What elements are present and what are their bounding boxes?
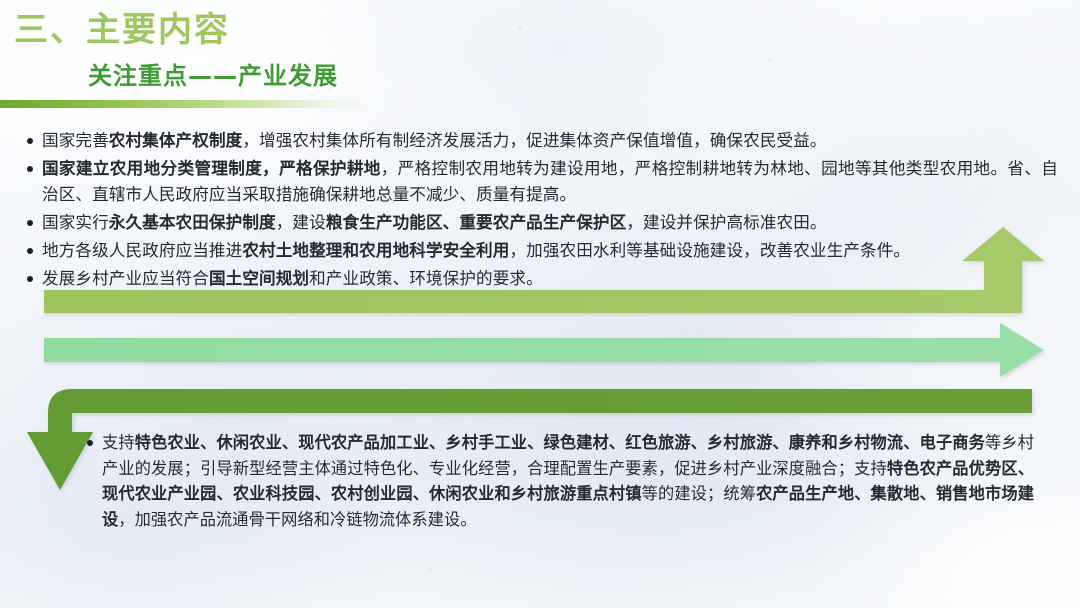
bullet-farmland-classification: 国家建立农用地分类管理制度，严格保护耕地，严格控制农用地转为建设用地，严格控制耕… [26, 156, 1058, 208]
page-subtitle: 关注重点——产业发展 [88, 56, 338, 91]
text-run: 国家实行 [42, 213, 109, 232]
emphasis-run: 特色农业、休闲农业、现代农产品加工业、乡村手工业、绿色建材、红色旅游、乡村旅游、… [135, 433, 985, 452]
text-run: 支持 [102, 433, 135, 452]
emphasis-run: 农村集体产权制度 [109, 131, 243, 150]
paragraph-support-rural-industry: 支持特色农业、休闲农业、现代农产品加工业、乡村手工业、绿色建材、红色旅游、乡村旅… [86, 430, 1034, 532]
emphasis-run: 国家建立农用地分类管理制度，严格保护耕地 [42, 159, 381, 178]
emphasis-run: 国土空间规划 [209, 269, 309, 288]
title-divider [0, 100, 372, 108]
arrow-right [44, 323, 1044, 377]
text-run: ，建设 [276, 213, 326, 232]
emphasis-run: 永久基本农田保护制度 [109, 213, 276, 232]
bullet-collective-property-rights: 国家完善农村集体产权制度，增强农村集体所有制经济发展活力，促进集体资产保值增值，… [26, 128, 1058, 154]
text-run: ，加强农田水利等基础设施建设，改善农业生产条件。 [509, 241, 910, 260]
text-run: 和产业政策、环境保护的要求。 [309, 269, 543, 288]
text-run: 等的建设；统筹 [642, 484, 756, 503]
text-run: 发展乡村产业应当符合 [42, 269, 209, 288]
text-run: 国家完善 [42, 131, 109, 150]
text-run: ，增强农村集体所有制经济发展活力，促进集体资产保值增值，确保农民受益。 [242, 131, 826, 150]
text-run: 地方各级人民政府应当推进 [42, 241, 242, 260]
bullet-list: 国家完善农村集体产权制度，增强农村集体所有制经济发展活力，促进集体资产保值增值，… [26, 128, 1058, 294]
emphasis-run: 农村土地整理和农用地科学安全利用 [242, 241, 509, 260]
bullet-land-consolidation: 地方各级人民政府应当推进农村土地整理和农用地科学安全利用，加强农田水利等基础设施… [26, 238, 1058, 264]
slide-canvas: 三、主要内容 关注重点——产业发展 [0, 0, 1080, 608]
emphasis-run: 粮食生产功能区、重要农产品生产保护区 [326, 213, 627, 232]
text-run: ，加强农产品流通骨干网络和冷链物流体系建设。 [118, 510, 476, 529]
bullet-permanent-basic-farmland: 国家实行永久基本农田保护制度，建设粮食生产功能区、重要农产品生产保护区，建设并保… [26, 210, 1058, 236]
paragraph-block: 支持特色农业、休闲农业、现代农产品加工业、乡村手工业、绿色建材、红色旅游、乡村旅… [86, 430, 1034, 532]
text-run: ，建设并保护高标准农田。 [626, 213, 826, 232]
page-title: 三、主要内容 [14, 2, 230, 51]
bullet-rural-industry-planning: 发展乡村产业应当符合国土空间规划和产业政策、环境保护的要求。 [26, 266, 1058, 292]
